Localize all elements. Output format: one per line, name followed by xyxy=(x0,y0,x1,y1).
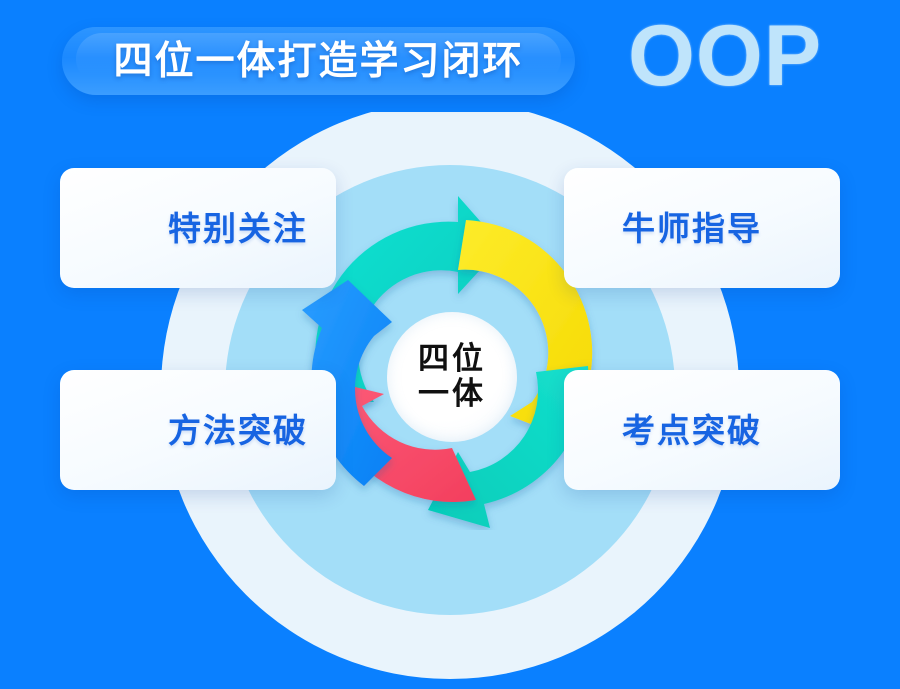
card-special-attention[interactable]: 特别关注 xyxy=(60,168,336,288)
infographic-canvas: 四位一体打造学习闭环 OOP xyxy=(0,0,900,689)
card-method-breakthrough[interactable]: 方法突破 xyxy=(60,370,336,490)
hub-label-line1: 四位 xyxy=(418,342,486,377)
card-exam-breakthrough[interactable]: 考点突破 xyxy=(564,370,840,490)
title-banner: 四位一体打造学习闭环 xyxy=(62,27,575,95)
page-title: 四位一体打造学习闭环 xyxy=(113,42,523,81)
wheel-hub: 四位 一体 xyxy=(387,312,517,442)
watermark-oop: OOP xyxy=(628,13,822,99)
card-expert-guidance[interactable]: 牛师指导 xyxy=(564,168,840,288)
card-label-exam-breakthrough: 考点突破 xyxy=(622,414,762,447)
hub-label-line2: 一体 xyxy=(418,377,486,412)
card-label-special-attention: 特别关注 xyxy=(168,212,308,245)
card-label-method-breakthrough: 方法突破 xyxy=(168,414,308,447)
card-label-expert-guidance: 牛师指导 xyxy=(622,212,762,245)
